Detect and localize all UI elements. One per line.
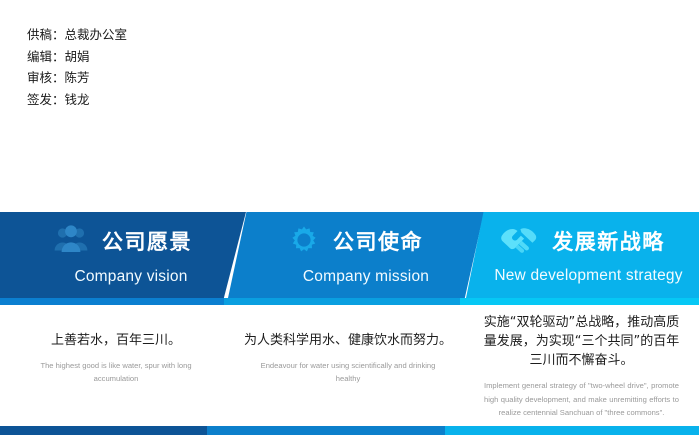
content-en-text: Endeavour for water using scientifically… xyxy=(232,360,464,385)
content-cn-text: 上善若水，百年三川。 xyxy=(0,331,232,351)
credits-block: 供稿：总裁办公室 编辑：胡娟 审核：陈芳 签发：钱龙 xyxy=(27,24,327,110)
panel-title-cn: 公司使命 xyxy=(333,232,423,253)
banner: 公司愿景 Company vision 公司使命 Company mission xyxy=(0,212,699,298)
panel-title-cn: 公司愿景 xyxy=(102,232,192,253)
panel-title-en: New development strategy xyxy=(494,268,682,284)
credit-line-issuer: 签发：钱龙 xyxy=(27,89,327,111)
content-cn-text: 实施“双轮驱动”总战略，推动高质量发展，为实现“三个共同”的百年三川而不懈奋斗。 xyxy=(464,313,699,370)
accent-segment-1 xyxy=(0,298,224,305)
panel-new-development-strategy: 发展新战略 New development strategy xyxy=(466,212,699,298)
panel-title-en: Company vision xyxy=(74,269,187,285)
accent-segment-2 xyxy=(224,298,460,305)
gear-icon xyxy=(289,225,319,260)
content-en-text: The highest good is like water, spur wit… xyxy=(0,360,232,385)
content-cn-text: 为人类科学用水、健康饮水而努力。 xyxy=(232,331,464,351)
bottom-bar xyxy=(0,426,699,435)
panel-title-en: Company mission xyxy=(303,269,429,285)
content-column-vision: 上善若水，百年三川。 The highest good is like wate… xyxy=(0,305,232,420)
banner-accent-strip xyxy=(0,298,699,305)
credit-line-reviewer: 审核：陈芳 xyxy=(27,67,327,89)
panel-company-vision: 公司愿景 Company vision xyxy=(0,212,246,298)
credit-line-editor: 编辑：胡娟 xyxy=(27,46,327,68)
content-column-mission: 为人类科学用水、健康饮水而努力。 Endeavour for water usi… xyxy=(232,305,464,420)
people-group-icon xyxy=(54,225,88,260)
content-column-strategy: 实施“双轮驱动”总战略，推动高质量发展，为实现“三个共同”的百年三川而不懈奋斗。… xyxy=(464,305,699,420)
panel-title-cn: 发展新战略 xyxy=(552,232,665,253)
handshake-icon xyxy=(500,226,538,259)
credit-line-contributor: 供稿：总裁办公室 xyxy=(27,24,327,46)
accent-segment-3 xyxy=(460,298,699,305)
content-en-text: Implement general strategy of "two-wheel… xyxy=(464,379,699,420)
bottom-segment-1 xyxy=(0,426,207,435)
content-columns: 上善若水，百年三川。 The highest good is like wate… xyxy=(0,305,699,420)
bottom-segment-3 xyxy=(445,426,699,435)
panel-company-mission: 公司使命 Company mission xyxy=(228,212,484,298)
bottom-segment-2 xyxy=(207,426,445,435)
